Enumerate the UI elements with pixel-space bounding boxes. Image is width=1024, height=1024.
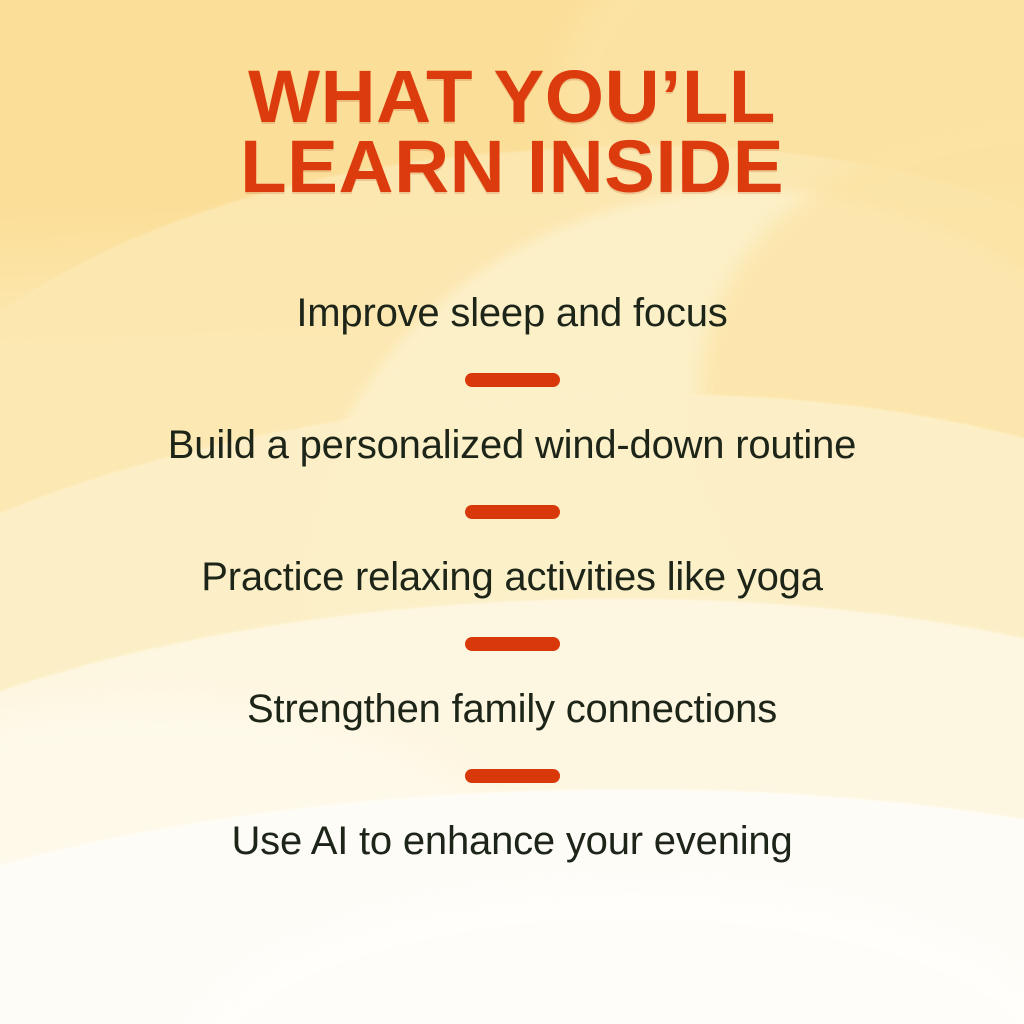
benefit-divider — [465, 637, 560, 651]
page-title-line-2: LEARN INSIDE — [240, 132, 784, 202]
list-item: Use AI to enhance your evening — [0, 819, 1024, 863]
poster-canvas: WHAT YOU’LL LEARN INSIDE Improve sleep a… — [0, 0, 1024, 1024]
benefit-text: Strengthen family connections — [0, 687, 1024, 731]
benefit-divider — [465, 373, 560, 387]
list-item: Strengthen family connections — [0, 687, 1024, 731]
benefit-text: Build a personalized wind-down routine — [0, 423, 1024, 467]
benefit-divider — [465, 769, 560, 783]
benefit-list: Improve sleep and focus Build a personal… — [0, 291, 1024, 863]
page-title: WHAT YOU’LL LEARN INSIDE — [240, 62, 784, 201]
poster-content: WHAT YOU’LL LEARN INSIDE Improve sleep a… — [0, 0, 1024, 1024]
list-item: Improve sleep and focus — [0, 291, 1024, 335]
benefit-divider — [465, 505, 560, 519]
page-title-line-1: WHAT YOU’LL — [240, 62, 784, 132]
benefit-text: Practice relaxing activities like yoga — [0, 555, 1024, 599]
benefit-text: Use AI to enhance your evening — [0, 819, 1024, 863]
benefit-text: Improve sleep and focus — [0, 291, 1024, 335]
list-item: Build a personalized wind-down routine — [0, 423, 1024, 467]
list-item: Practice relaxing activities like yoga — [0, 555, 1024, 599]
